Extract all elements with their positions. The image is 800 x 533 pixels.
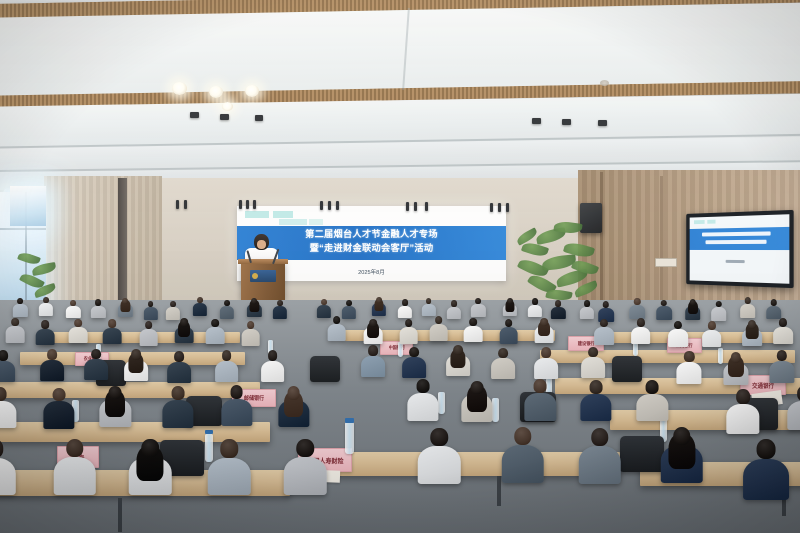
audience-torso [206, 327, 225, 344]
audience-head [41, 320, 49, 328]
audience-member [534, 347, 558, 379]
audience-head [779, 318, 787, 327]
audience-head [505, 319, 513, 327]
audience-torso [399, 327, 418, 344]
audience-head [277, 300, 283, 306]
audience-member [711, 301, 727, 322]
ceiling-spotlight [598, 120, 607, 126]
audience-torso [167, 362, 191, 383]
audience-member [535, 318, 554, 343]
audience-member [247, 298, 261, 317]
audience-head [744, 297, 750, 304]
audience-member [408, 379, 439, 420]
audience-member [525, 379, 556, 420]
audience-member [471, 298, 485, 317]
downlight [172, 82, 187, 95]
audience-member [327, 316, 346, 341]
audience-head [777, 350, 787, 361]
audience-torso [0, 401, 16, 429]
audience-torso [208, 458, 251, 496]
water-bottle [492, 398, 499, 422]
audience-head [222, 350, 232, 361]
audience-head [748, 320, 756, 329]
audience-head [402, 299, 408, 305]
conference-room-photo: 第二届烟台人才节金融人才专场 暨“走进财金联动会客厅”活动 2025年8月 [0, 0, 800, 533]
audience-torso [143, 307, 157, 320]
audience-head [555, 300, 561, 306]
audience-head [95, 299, 101, 305]
audience-member [418, 428, 461, 484]
audience-head [451, 300, 457, 306]
audience-member [501, 427, 544, 483]
audience-torso [43, 401, 74, 429]
audience-head [584, 300, 590, 306]
audience-head [541, 318, 549, 326]
ceiling-spotlight [532, 118, 541, 124]
downlight [222, 102, 233, 111]
audience-member [742, 320, 762, 346]
audience-head [590, 380, 603, 394]
audience-head [603, 301, 609, 308]
audience-torso [580, 394, 611, 422]
audience-torso [273, 306, 287, 319]
audience-head [71, 300, 77, 306]
audience-member [656, 300, 672, 321]
audience-member [91, 299, 105, 318]
podium-emblem [250, 270, 276, 282]
audience-head [636, 318, 644, 327]
audience-torso [0, 458, 15, 496]
audience-head [171, 386, 184, 400]
audience-torso [528, 305, 542, 318]
audience-member [581, 347, 605, 379]
audience-head [91, 349, 101, 360]
audience-head [43, 297, 49, 303]
podium-top-surface [238, 259, 288, 264]
tv-title-band [690, 227, 790, 250]
audience-head [141, 439, 159, 458]
audience-head [736, 389, 750, 404]
audience-member [206, 319, 225, 344]
audience-torso [501, 445, 544, 483]
audience-head [122, 298, 128, 304]
audience-member [372, 297, 386, 316]
ceiling-spotlight [255, 115, 263, 121]
audience-member [685, 299, 701, 320]
audience-torso [421, 304, 435, 317]
audience-head [684, 351, 694, 362]
slide-accent-block [309, 219, 323, 225]
audience-head [417, 379, 430, 393]
audience-head [376, 297, 382, 303]
audience-member [273, 300, 287, 319]
audience-head [532, 298, 538, 304]
audience-head [47, 349, 57, 360]
audience-torso [215, 361, 239, 382]
audience-head [369, 319, 377, 327]
sprinkler-head [600, 80, 609, 86]
audience-member [13, 298, 27, 317]
audience-member [0, 439, 15, 495]
audience-member [766, 299, 782, 320]
track-spotlight [414, 202, 417, 211]
audience-torso [0, 361, 15, 382]
track-spotlight [246, 200, 249, 209]
audience-head [296, 439, 314, 458]
audience-head [756, 439, 775, 459]
audience-torso [221, 399, 252, 427]
audience-head [514, 427, 532, 446]
audience-torso [13, 304, 27, 317]
audience-head [708, 321, 716, 330]
audience-member [446, 345, 470, 377]
track-spotlight [176, 200, 179, 209]
audience-head [224, 300, 230, 306]
downlight [245, 85, 259, 97]
track-spotlight [490, 203, 493, 212]
audience-head [211, 319, 219, 327]
audience-member [661, 427, 704, 483]
table-leg [118, 498, 122, 532]
audience-torso [91, 306, 105, 319]
audience-head [470, 381, 483, 395]
audience-member [499, 319, 518, 344]
ceiling-spotlight [220, 114, 229, 120]
audience-head [170, 301, 176, 307]
audience-member [193, 297, 207, 316]
audience-member [241, 321, 260, 346]
track-spotlight [406, 202, 409, 211]
audience-head [405, 319, 413, 327]
audience-torso [773, 327, 793, 344]
track-spotlight [184, 200, 187, 209]
audience-head [731, 352, 741, 363]
audience-member [143, 301, 157, 320]
audience-torso [407, 393, 438, 421]
audience-torso [581, 357, 605, 378]
audience-head [368, 345, 378, 356]
audience-torso [702, 330, 722, 347]
water-bottle [718, 348, 723, 364]
audience-member [403, 347, 427, 379]
audience-head [591, 428, 609, 447]
audience-torso [743, 459, 789, 500]
audience-torso [499, 327, 518, 344]
audience-torso [418, 446, 461, 484]
audience-head [131, 349, 141, 360]
audience-head [690, 299, 696, 306]
audience-head [268, 350, 278, 361]
audience-torso [534, 358, 558, 379]
audience-member [551, 300, 565, 319]
audience-member [503, 298, 517, 317]
slide-accent-block [273, 211, 293, 218]
audience-member [220, 300, 234, 319]
audience-torso [726, 404, 759, 433]
audience-member [668, 321, 688, 347]
audience-torso [327, 324, 346, 341]
audience-torso [429, 324, 448, 341]
tv-accent-block [694, 220, 705, 224]
audience-member [0, 387, 16, 428]
audience-torso [403, 357, 427, 378]
audience-head [507, 298, 513, 304]
audience-head [469, 318, 477, 326]
water-bottle [438, 392, 445, 414]
audience-member [464, 318, 483, 343]
audience-member [278, 386, 309, 427]
audience-member [637, 380, 668, 421]
track-spotlight [320, 201, 323, 210]
audience-member [364, 319, 383, 344]
ceiling-spotlight [190, 112, 199, 118]
audience-head [12, 318, 20, 326]
track-spotlight [239, 200, 242, 209]
audience-head [410, 347, 420, 358]
bottle-cap [205, 430, 213, 434]
audience-torso [284, 457, 327, 495]
audience-member [118, 298, 132, 317]
audience-member [447, 300, 461, 319]
audience-torso [769, 361, 794, 383]
audience-head [109, 319, 117, 327]
track-spotlight [336, 201, 339, 210]
track-spotlight [425, 202, 428, 211]
audience-head [221, 439, 239, 458]
bottle-cap [345, 418, 354, 423]
track-spotlight [328, 201, 331, 210]
audience-head [346, 300, 352, 306]
audience-head [771, 299, 777, 306]
audience-head [431, 428, 449, 447]
audience-torso [261, 361, 285, 382]
name-placard-label: 建设银行 [578, 341, 595, 347]
audience-torso [6, 326, 25, 343]
wall-sign [655, 258, 677, 267]
audience-torso [656, 306, 672, 320]
ceiling-spotlight [562, 119, 571, 125]
audience-torso [39, 303, 53, 316]
audience-member [54, 439, 97, 495]
audience-head [66, 439, 84, 458]
audience-head [247, 321, 255, 329]
audience-member [36, 320, 55, 345]
audience-head [673, 427, 691, 446]
audience-head [498, 348, 508, 359]
audience-torso [594, 327, 614, 344]
audience-head [426, 298, 432, 304]
slide-accent-block [245, 211, 269, 218]
audience-torso [220, 306, 234, 319]
audience-head [634, 298, 640, 305]
audience-torso [525, 393, 556, 421]
chair [612, 356, 642, 382]
audience-torso [241, 329, 260, 346]
audience-member [317, 299, 331, 318]
audience-member [773, 318, 793, 344]
audience-member [723, 352, 748, 385]
audience-member [787, 386, 800, 430]
audience-head [534, 379, 547, 393]
audience-torso [398, 306, 412, 319]
audience-member [69, 319, 88, 344]
audience-member [398, 299, 412, 318]
audience-head [197, 297, 203, 303]
audience-torso [491, 358, 515, 379]
audience-head [646, 380, 659, 394]
chair [310, 356, 340, 382]
audience-member [594, 319, 614, 345]
audience-head [674, 321, 682, 330]
audience-torso [580, 307, 594, 320]
audience-member [0, 350, 15, 382]
audience-head [0, 350, 8, 361]
audience-member [579, 428, 622, 484]
audience-member [630, 298, 646, 319]
tv-date-line [726, 260, 745, 263]
slide-accent-block [279, 219, 307, 225]
audience-torso [579, 446, 622, 484]
audience-member [284, 439, 327, 495]
audience-member [166, 301, 180, 320]
audience-member [491, 348, 515, 380]
audience-head [600, 319, 608, 328]
wall-mounted-tv [686, 210, 793, 288]
audience-member [580, 380, 611, 421]
audience-member [677, 351, 702, 384]
audience-member [124, 349, 148, 381]
water-bottle [345, 422, 354, 454]
audience-torso [787, 401, 800, 430]
audience-member [580, 300, 594, 319]
audience-member [100, 386, 131, 427]
audience-head [0, 439, 3, 458]
audience-head [230, 385, 243, 399]
audience-member [66, 300, 80, 319]
audience-member [743, 439, 789, 500]
audience-torso [471, 304, 485, 317]
indoor-plant [516, 218, 602, 310]
audience-head [333, 316, 341, 324]
presenter-face [257, 240, 266, 249]
audience-head [0, 387, 7, 401]
audience-torso [36, 329, 55, 346]
window-mullion [0, 228, 46, 230]
audience-member [162, 386, 193, 427]
audience-torso [630, 305, 646, 319]
audience-head [475, 298, 481, 304]
audience-torso [193, 303, 207, 316]
audience-member [421, 298, 435, 317]
audience-torso [711, 307, 727, 321]
ceiling-panel-a [0, 2, 800, 96]
audience-head [453, 345, 463, 356]
audience-member [84, 349, 108, 381]
audience-torso [103, 328, 122, 345]
audience-member [726, 389, 759, 433]
audience-torso [447, 307, 461, 320]
audience-head [287, 386, 300, 400]
audience-head [145, 321, 153, 329]
audience-member [40, 349, 64, 381]
audience-member [702, 321, 722, 347]
audience-head [321, 299, 327, 305]
audience-head [52, 388, 65, 402]
audience-torso [677, 362, 702, 384]
audience-member [139, 321, 158, 346]
audience-head [541, 347, 551, 358]
audience-torso [162, 400, 193, 428]
audience-member [39, 297, 53, 316]
audience-torso [84, 359, 108, 380]
downlight [209, 86, 223, 98]
window-left-upper [10, 186, 46, 226]
audience-head [251, 298, 257, 304]
audience-member [208, 439, 251, 495]
audience-member [261, 350, 285, 382]
audience-torso [464, 326, 483, 343]
tv-title-line [706, 240, 767, 244]
audience-head [716, 301, 722, 308]
audience-torso [139, 329, 158, 346]
audience-member [103, 319, 122, 344]
audience-member [43, 388, 74, 429]
audience-torso [631, 327, 651, 344]
audience-head [588, 347, 598, 358]
tv-screen [690, 214, 790, 284]
audience-head [435, 316, 443, 324]
audience-head [180, 318, 188, 326]
audience-member [429, 316, 448, 341]
audience-member [361, 345, 385, 377]
chair [620, 436, 664, 472]
audience-torso [637, 394, 668, 422]
audience-member [6, 318, 25, 343]
track-spotlight [253, 200, 256, 209]
audience-torso [66, 306, 80, 319]
audience-member [175, 318, 194, 343]
audience-member [528, 298, 542, 317]
audience-head [661, 300, 667, 307]
audience-member [740, 297, 756, 318]
track-spotlight [498, 203, 501, 212]
audience-torso [361, 356, 385, 377]
audience-member [461, 381, 492, 422]
audience-member [215, 350, 239, 382]
slide-title-line-1: 第二届烟台人才节金融人才专场 [237, 228, 506, 240]
audience-head [109, 386, 122, 400]
audience-member [631, 318, 651, 344]
audience-head [17, 298, 23, 304]
audience-torso [54, 457, 97, 495]
audience-head [148, 301, 154, 307]
audience-torso [668, 329, 688, 346]
audience-head [75, 319, 83, 327]
audience-torso [69, 327, 88, 344]
audience-member [399, 319, 418, 344]
track-spotlight [506, 203, 509, 212]
audience-torso [740, 304, 756, 318]
speaker-podium [241, 262, 285, 300]
audience-member [129, 439, 172, 495]
audience-member [167, 351, 191, 383]
tv-accent-block [707, 220, 715, 224]
audience-head [174, 351, 184, 362]
audience-member [221, 385, 252, 426]
audience-torso [40, 360, 64, 381]
audience-member [769, 350, 794, 383]
